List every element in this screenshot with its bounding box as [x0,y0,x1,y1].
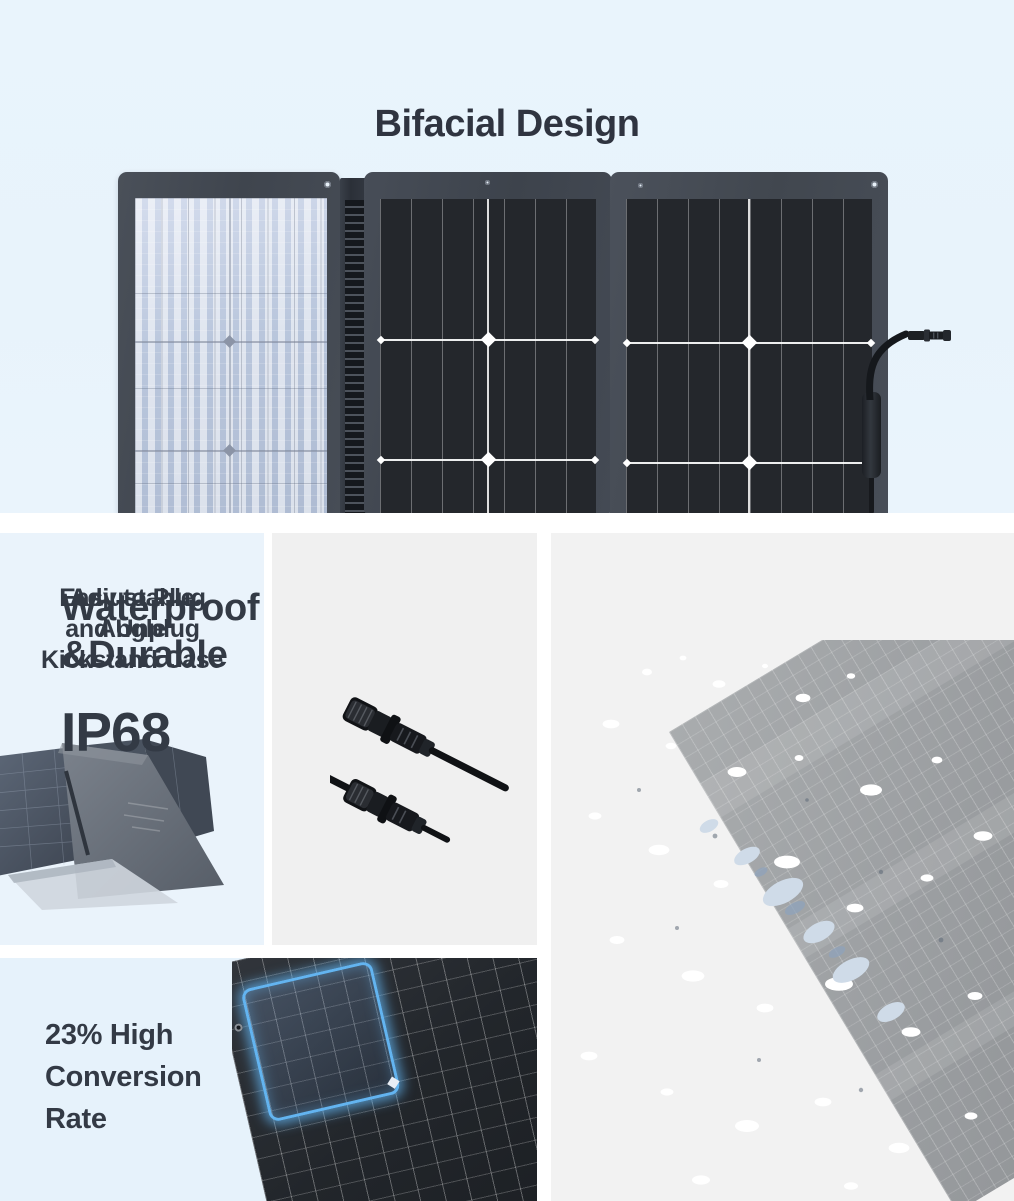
junction-box [862,392,881,478]
conversion-panel-surface [232,958,537,1201]
grommet-hole-icon [871,181,878,188]
mc4-connector-icon [908,328,954,343]
bifacial-cell-grid [135,198,327,513]
highlighted-cell [240,960,401,1123]
grommet-hole-icon [234,1023,244,1033]
product-feature-page: Bifacial Design [0,0,1014,1201]
bifacial-rear-panel [118,172,340,513]
grommet-hole-icon [485,180,490,185]
waterproof-title-line2: &Durable [61,632,259,679]
waterproof-title: Waterproof &Durable [61,585,259,679]
bifacial-vertical-busbar [229,198,231,513]
hinge-ribs [345,200,365,513]
front-panel-middle [364,172,612,513]
conversion-title: 23% High Conversion Rate [45,1014,202,1140]
waterproof-title-line1: Waterproof [61,585,259,632]
page-title: Bifacial Design [0,103,1014,146]
output-cable [854,318,914,400]
conversion-panel-photo [232,958,537,1201]
conversion-title-line1: 23% High [45,1014,202,1056]
conversion-title-line3: Rate [45,1098,202,1140]
waterproof-splash-photo [551,640,1014,1201]
solar-panel-hero-image [118,172,888,513]
water-droplets [551,640,1014,1201]
hero-section: Bifacial Design [0,0,1014,513]
grommet-hole-icon [638,183,643,188]
front-panel-right [610,172,888,513]
ip-rating-badge: IP68 [61,702,170,762]
panel-hinge-spine [340,178,367,513]
front-glass-right [626,199,872,513]
grommet-hole-icon [324,181,331,188]
front-glass-middle [380,199,596,513]
conversion-title-line2: Conversion [45,1056,202,1098]
mc4-connectors-photo [330,688,530,868]
